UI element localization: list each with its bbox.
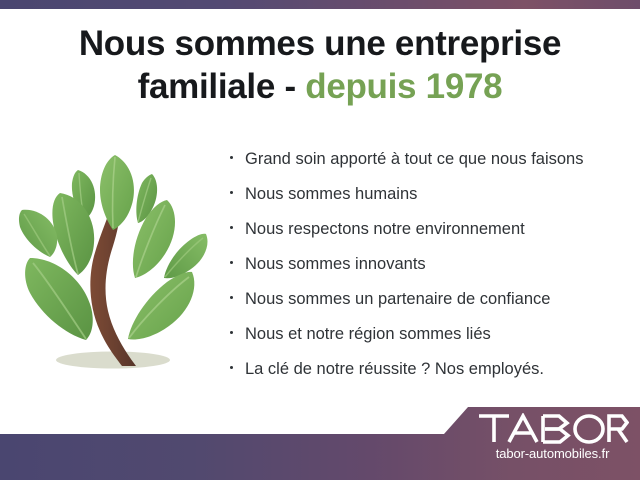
- list-item-label: Nous et notre région sommes liés: [245, 325, 491, 343]
- tree-leaf-top-center: [100, 155, 134, 230]
- tree-leaf-lower-right: [128, 272, 194, 340]
- bullet-dot-icon: [230, 296, 233, 299]
- bullet-dot-icon: [230, 156, 233, 159]
- tree-shadow: [56, 352, 170, 369]
- tree-illustration: [12, 148, 217, 393]
- brand-wordmark-icon: [477, 413, 629, 444]
- list-item: Nous et notre région sommes liés: [229, 323, 629, 358]
- bullet-dot-icon: [230, 226, 233, 229]
- footer-bar: tabor-automobiles.fr: [0, 404, 640, 480]
- bullet-dot-icon: [230, 366, 233, 369]
- bullet-dot-icon: [230, 261, 233, 264]
- list-item: Nous sommes humains: [229, 183, 629, 218]
- list-item-label: Grand soin apporté à tout ce que nous fa…: [245, 150, 583, 168]
- list-item: Grand soin apporté à tout ce que nous fa…: [229, 148, 629, 183]
- brand-tagline: tabor-automobiles.fr: [470, 446, 635, 461]
- list-item: Nous sommes innovants: [229, 253, 629, 288]
- title-line-2: familiale - depuis 1978: [0, 69, 640, 105]
- title-line-2-accent: depuis 1978: [305, 67, 502, 106]
- list-item-label: Nous sommes humains: [245, 185, 417, 203]
- bullet-dot-icon: [230, 191, 233, 194]
- list-item: Nous sommes un partenaire de confiance: [229, 288, 629, 323]
- bullet-dot-icon: [230, 331, 233, 334]
- page-title: Nous sommes une entreprise familiale - d…: [0, 26, 640, 104]
- tree-leaf-far-left-small: [19, 210, 57, 257]
- brand-logo[interactable]: tabor-automobiles.fr: [470, 413, 635, 461]
- top-accent-bar: [0, 0, 640, 9]
- list-item-label: Nous sommes innovants: [245, 255, 426, 273]
- title-line-2-main: familiale -: [138, 67, 306, 106]
- title-line-1: Nous sommes une entreprise: [0, 26, 640, 62]
- list-item: Nous respectons notre environnement: [229, 218, 629, 253]
- list-item-label: La clé de notre réussite ? Nos employés.: [245, 360, 544, 378]
- benefits-list: Grand soin apporté à tout ce que nous fa…: [229, 148, 629, 393]
- slide-canvas: Nous sommes une entreprise familiale - d…: [0, 0, 640, 480]
- list-item-label: Nous respectons notre environnement: [245, 220, 525, 238]
- list-item-label: Nous sommes un partenaire de confiance: [245, 290, 550, 308]
- list-item: La clé de notre réussite ? Nos employés.: [229, 358, 629, 393]
